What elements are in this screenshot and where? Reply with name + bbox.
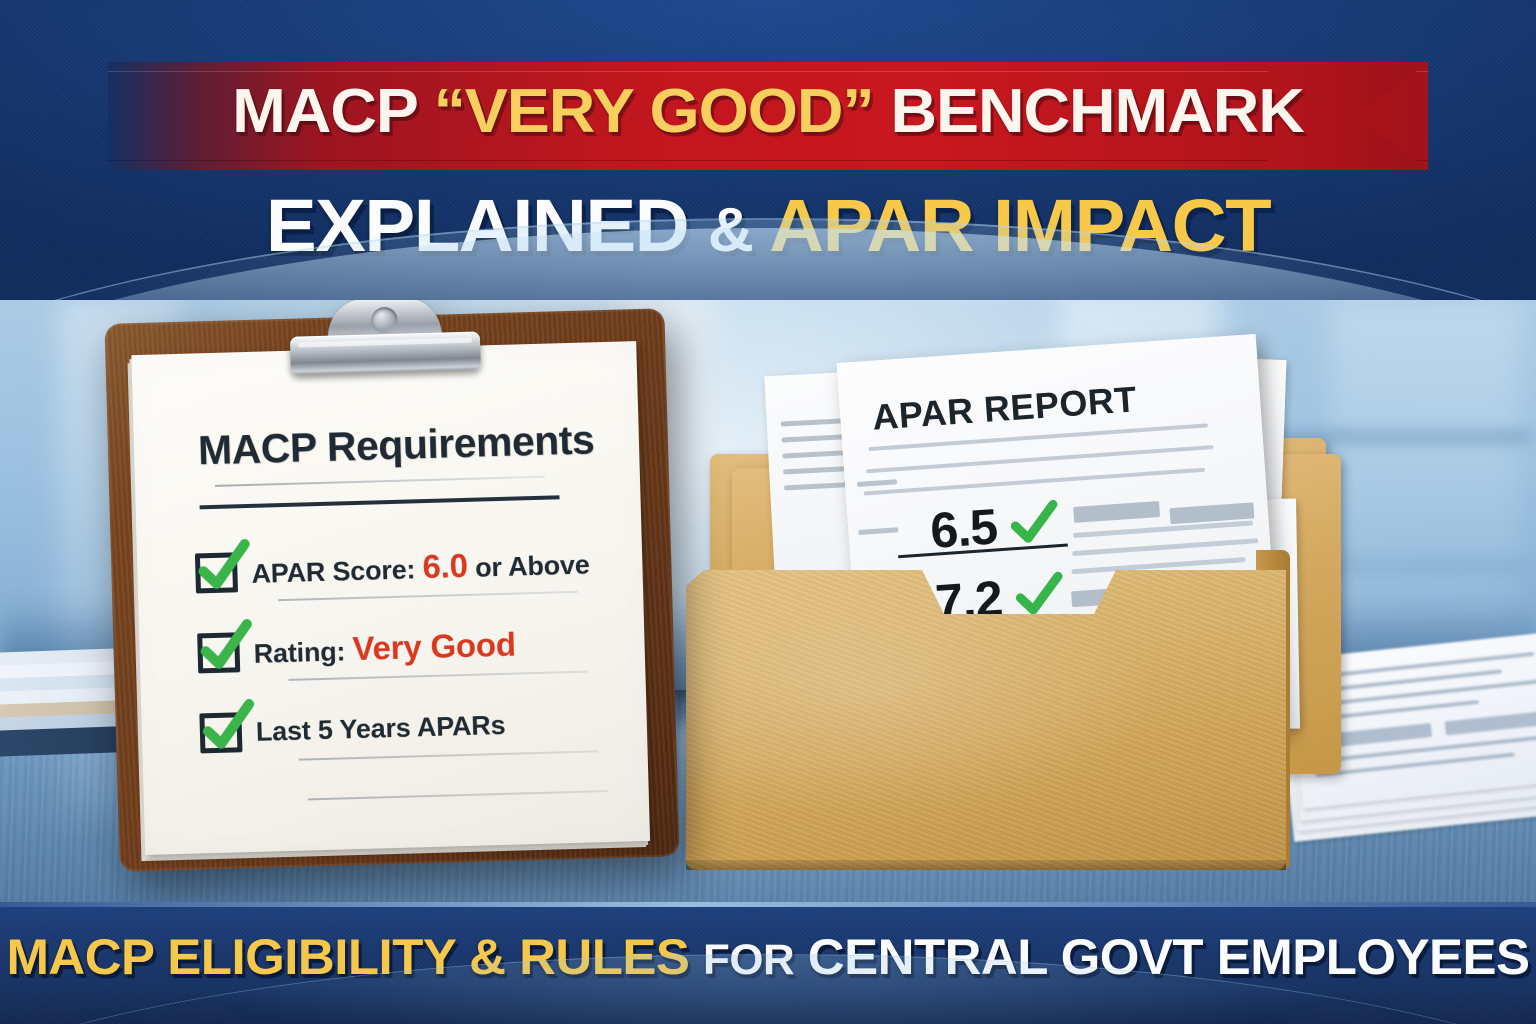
apar-report-title: APAR REPORT (871, 378, 1138, 438)
folder-texture (686, 570, 1286, 870)
clipboard-title-rule-thin (215, 476, 545, 487)
requirement-row: Rating: Very Good (197, 603, 659, 692)
requirement-text: APAR Score: 6.0 or Above (251, 543, 590, 590)
title-part2: BENCHMARK (890, 77, 1303, 146)
clipboard-clip (289, 295, 481, 374)
title-part1: MACP (232, 77, 417, 146)
document-folder-group: APAR REPORT 6.5 (680, 350, 1320, 870)
requirement-highlight: Very Good (352, 626, 516, 668)
front-folder (686, 570, 1286, 870)
checkbox[interactable] (195, 552, 238, 593)
footer-top-border (0, 902, 1536, 907)
apar-rule (866, 445, 1213, 473)
clipboard-title: MACP Requirements (197, 416, 594, 474)
requirement-label: APAR Score: (251, 554, 416, 589)
check-icon (195, 618, 255, 678)
requirement-underline (308, 790, 608, 800)
requirement-row: APAR Score: 6.0 or Above (194, 523, 656, 612)
clipboard-title-rule-thick (200, 495, 560, 509)
requirement-row: Last 5 Years APARs (199, 683, 661, 772)
macp-requirements-clipboard: MACP Requirements APAR Score: 6.0 or Abo… (104, 308, 679, 871)
checkbox[interactable] (199, 712, 242, 753)
clip-bar (290, 331, 481, 374)
requirement-highlight: 6.0 (422, 547, 468, 585)
folder-bottom-edge (686, 860, 1286, 870)
clip-hole-icon (371, 307, 398, 334)
check-icon (1007, 497, 1060, 550)
requirement-text: Last 5 Years APARs (255, 709, 505, 747)
footer-banner: MACP ELIGIBILITY & RULES FOR CENTRAL GOV… (0, 902, 1536, 1024)
header-banner: MACP “VERY GOOD” BENCHMARK EXPLAINED & A… (0, 0, 1536, 300)
check-icon (193, 538, 253, 598)
clipboard-paper: MACP Requirements APAR Score: 6.0 or Abo… (131, 341, 650, 855)
title-quoted: “VERY GOOD” (434, 77, 874, 146)
requirement-suffix: or Above (475, 549, 590, 582)
checkbox[interactable] (197, 632, 240, 673)
infographic-canvas: APAR REPORT 6.5 (0, 0, 1536, 1024)
check-icon (197, 698, 257, 758)
requirement-text: Rating: Very Good (253, 626, 516, 671)
requirement-label: Rating: (253, 636, 345, 669)
apar-margin-dash (857, 479, 897, 487)
page-title-line1: MACP “VERY GOOD” BENCHMARK (0, 58, 1536, 166)
